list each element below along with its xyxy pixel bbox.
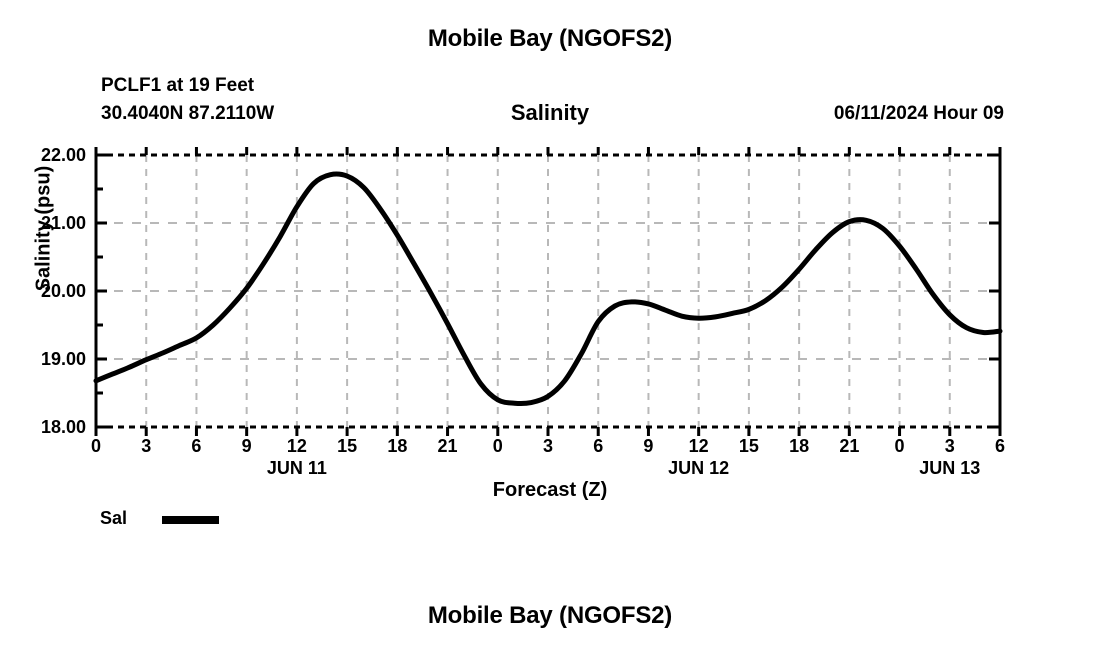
x-tick-label: 18: [377, 436, 417, 457]
x-tick-label: 6: [980, 436, 1020, 457]
x-tick-label: 0: [76, 436, 116, 457]
x-day-label: JUN 11: [237, 458, 357, 479]
y-tick-label: 19.00: [6, 349, 86, 370]
gridlines: [96, 155, 1000, 427]
x-tick-label: 12: [277, 436, 317, 457]
x-tick-label: 3: [930, 436, 970, 457]
footer-title: Mobile Bay (NGOFS2): [0, 602, 1100, 630]
x-tick-label: 6: [176, 436, 216, 457]
y-tick-label: 22.00: [6, 145, 86, 166]
x-tick-label: 15: [327, 436, 367, 457]
x-tick-label: 9: [628, 436, 668, 457]
x-day-label: JUN 13: [890, 458, 1010, 479]
x-day-label: JUN 12: [639, 458, 759, 479]
x-tick-label: 0: [880, 436, 920, 457]
y-tick-label: 20.00: [6, 281, 86, 302]
y-tick-label: 21.00: [6, 213, 86, 234]
chart-plot-area: [0, 0, 1100, 650]
x-tick-label: 3: [528, 436, 568, 457]
x-tick-label: 0: [478, 436, 518, 457]
chart-page: Mobile Bay (NGOFS2) PCLF1 at 19 Feet 30.…: [0, 0, 1100, 650]
x-tick-label: 15: [729, 436, 769, 457]
legend-swatch-sal: [162, 516, 219, 524]
x-tick-label: 18: [779, 436, 819, 457]
y-tick-label: 18.00: [6, 417, 86, 438]
x-tick-label: 21: [829, 436, 869, 457]
x-tick-label: 6: [578, 436, 618, 457]
x-tick-label: 12: [679, 436, 719, 457]
x-tick-label: 21: [428, 436, 468, 457]
x-tick-label: 3: [126, 436, 166, 457]
legend-label: Sal: [100, 508, 127, 529]
x-tick-label: 9: [227, 436, 267, 457]
